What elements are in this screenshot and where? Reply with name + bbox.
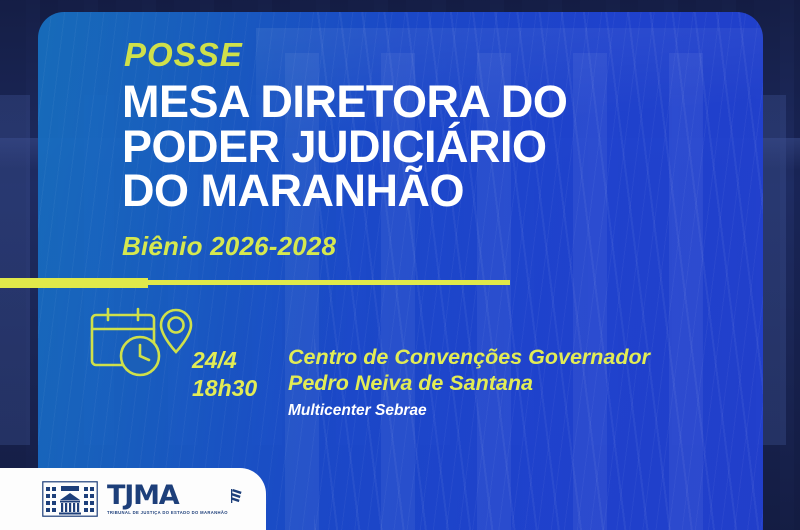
tjma-logo: TJMA TRIBUNAL DE JUSTIÇA DO ESTADO DO MA… — [42, 481, 243, 517]
event-icon-group — [88, 302, 198, 380]
logo-panel: TJMA TRIBUNAL DE JUSTIÇA DO ESTADO DO MA… — [0, 468, 266, 530]
accent-bar-thick — [0, 278, 148, 288]
courthouse-building-icon — [42, 481, 98, 517]
kicker-text: POSSE — [124, 36, 243, 74]
venue-name: Centro de Convenções Governador Pedro Ne… — [288, 345, 708, 397]
event-time: 18h30 — [192, 374, 257, 402]
tjma-tagline: TRIBUNAL DE JUSTIÇA DO ESTADO DO MARANHÃ… — [107, 511, 228, 515]
page-title: MESA DIRETORA DO PODER JUDICIÁRIO DO MAR… — [122, 80, 682, 214]
event-venue: Centro de Convenções Governador Pedro Ne… — [288, 345, 708, 420]
accent-divider — [0, 276, 520, 290]
headline-line-3: DO MARANHÃO — [122, 169, 682, 214]
poster-canvas: POSSE MESA DIRETORA DO PODER JUDICIÁRIO … — [0, 0, 800, 530]
event-date: 24/4 — [192, 346, 257, 374]
event-datetime: 24/4 18h30 — [192, 346, 257, 402]
calendar-clock-pin-icons — [88, 302, 198, 380]
headline-line-1: MESA DIRETORA DO — [122, 80, 682, 125]
tjma-wordmark-block: TJMA TRIBUNAL DE JUSTIÇA DO ESTADO DO MA… — [107, 482, 228, 515]
venue-line-1: Centro de Convenções Governador — [288, 345, 708, 371]
venue-subtitle: Multicenter Sebrae — [288, 402, 708, 420]
tjma-wordmark: TJMA — [107, 482, 228, 509]
accent-bar-thin — [148, 280, 510, 285]
biennium-text: Biênio 2026-2028 — [122, 231, 336, 262]
headline-line-2: PODER JUDICIÁRIO — [122, 125, 682, 170]
poster-content: POSSE MESA DIRETORA DO PODER JUDICIÁRIO … — [0, 0, 800, 530]
venue-line-2: Pedro Neiva de Santana — [288, 371, 708, 397]
maranhao-flag-icon — [231, 489, 243, 503]
